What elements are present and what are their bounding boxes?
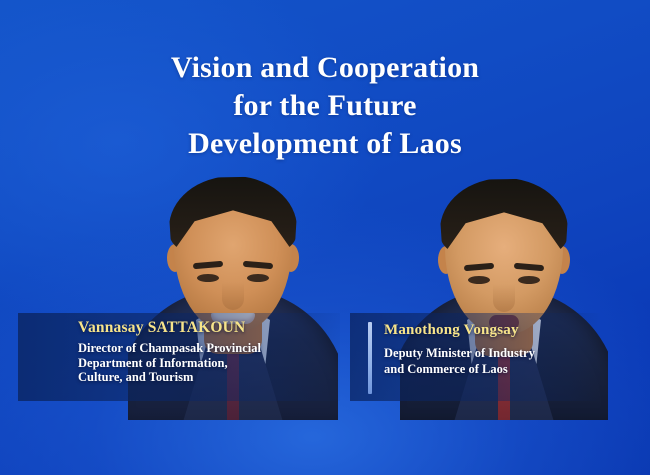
speaker-role-line: Department of Information, — [78, 356, 336, 371]
speaker-role: Deputy Minister of Industry and Commerce… — [384, 345, 596, 377]
title-line-3: Development of Laos — [0, 125, 650, 163]
speaker-role-line: and Commerce of Laos — [384, 361, 596, 377]
eye-right — [247, 274, 269, 282]
caption-accent-bar — [368, 322, 372, 394]
caption-text-block: Manothong Vongsay Deputy Minister of Ind… — [384, 320, 596, 377]
eyebrow-right — [514, 263, 544, 272]
presentation-slide: Vision and Cooperation for the Future De… — [0, 0, 650, 475]
speaker-caption-right: Manothong Vongsay Deputy Minister of Ind… — [350, 313, 600, 401]
nose — [493, 284, 515, 312]
speaker-role-line: Director of Champasak Provincial — [78, 341, 336, 356]
speaker-caption-left: Vannasay SATTAKOUN Director of Champasak… — [18, 313, 340, 401]
speaker-role: Director of Champasak Provincial Departm… — [78, 341, 336, 385]
speaker-name: Vannasay SATTAKOUN — [78, 318, 336, 338]
nose — [222, 282, 244, 310]
speaker-role-line: Deputy Minister of Industry — [384, 345, 596, 361]
eyebrow-right — [243, 261, 273, 270]
title-line-1: Vision and Cooperation — [0, 49, 650, 87]
eye-right — [518, 276, 540, 284]
slide-title: Vision and Cooperation for the Future De… — [0, 49, 650, 163]
eye-left — [468, 276, 490, 284]
caption-text-block: Vannasay SATTAKOUN Director of Champasak… — [78, 318, 336, 385]
eyebrow-left — [193, 261, 223, 270]
speaker-name: Manothong Vongsay — [384, 320, 596, 340]
speaker-role-line: Culture, and Tourism — [78, 370, 336, 385]
title-line-2: for the Future — [0, 87, 650, 125]
eyebrow-left — [464, 263, 494, 272]
eye-left — [197, 274, 219, 282]
